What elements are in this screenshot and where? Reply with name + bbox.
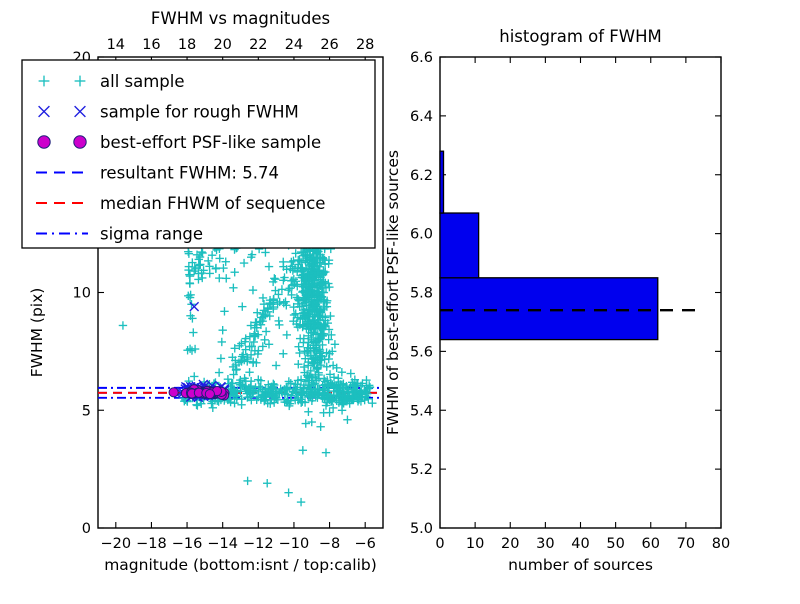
right-x-tick-label: 50 [606, 536, 624, 552]
left-bottom-tick-label: −16 [172, 536, 203, 552]
left-bottom-tick-label: −10 [279, 536, 310, 552]
legend-item-label: sigma range [100, 225, 203, 244]
right-y-tick-label: 6.0 [410, 227, 433, 243]
left-ylabel: FWHM (pix) [28, 288, 46, 378]
left-xlabel: magnitude (bottom:isnt / top:calib) [104, 556, 377, 574]
right-x-tick-label: 80 [712, 536, 730, 552]
legend: all samplesample for rough FWHMbest-effo… [22, 60, 375, 248]
left-bottom-tick-label: −12 [243, 536, 274, 552]
left-top-tick-label: 18 [178, 37, 196, 53]
left-bottom-tick-label: −18 [136, 536, 167, 552]
left-bottom-tick-label: −8 [319, 536, 340, 552]
left-bottom-tick-label: −20 [101, 536, 132, 552]
left-top-tick-label: 22 [249, 37, 267, 53]
right-y-tick-label: 5.2 [410, 462, 433, 478]
histogram-bar [440, 151, 444, 213]
right-y-tick-label: 6.2 [410, 168, 433, 184]
left-top-tick-label: 16 [142, 37, 160, 53]
legend-item-label: best-effort PSF-like sample [100, 133, 321, 152]
left-y-tick-label: 10 [73, 286, 91, 302]
legend-circle-marker [38, 136, 50, 148]
left-top-tick-label: 26 [320, 37, 338, 53]
left-bottom-tick-label: −14 [207, 536, 238, 552]
right-panel: histogram of FWHM010203040506070805.05.2… [384, 27, 730, 574]
right-y-tick-label: 6.6 [410, 50, 433, 66]
left-top-tick-label: 20 [213, 37, 231, 53]
right-x-tick-label: 30 [536, 536, 554, 552]
right-y-tick-label: 5.6 [410, 344, 433, 360]
left-y-tick-label: 0 [82, 521, 91, 537]
right-xlabel: number of sources [508, 556, 653, 574]
legend-item-label: resultant FWHM: 5.74 [100, 164, 279, 183]
left-top-tick-label: 28 [356, 37, 374, 53]
right-x-tick-label: 60 [642, 536, 660, 552]
histogram-bar [440, 213, 479, 278]
legend-item-label: sample for rough FWHM [100, 103, 299, 122]
right-y-tick-label: 5.4 [410, 403, 433, 419]
right-y-tick-label: 6.4 [410, 109, 433, 125]
matplotlib-figure: FWHM vs magnitudes1416182022242628−20−18… [0, 0, 800, 600]
left-bottom-tick-label: −6 [355, 536, 376, 552]
right-x-tick-label: 70 [677, 536, 695, 552]
left-y-tick-label: 5 [82, 403, 91, 419]
legend-circle-marker [74, 136, 86, 148]
legend-item-label: all sample [100, 72, 185, 91]
right-x-tick-label: 20 [501, 536, 519, 552]
legend-item-label: median FHWM of sequence [100, 194, 325, 213]
figure-canvas: FWHM vs magnitudes1416182022242628−20−18… [0, 0, 800, 600]
right-y-tick-label: 5.0 [410, 521, 433, 537]
psf-dot [169, 388, 178, 397]
legend-frame [22, 60, 375, 248]
right-x-tick-label: 10 [466, 536, 484, 552]
psf-dot [205, 389, 214, 398]
right-x-tick-label: 0 [435, 536, 444, 552]
left-panel-title: FWHM vs magnitudes [151, 9, 330, 28]
right-ylabel: FWHM of best-effort PSF-like sources [384, 150, 402, 435]
left-top-tick-label: 14 [107, 37, 125, 53]
histogram-bars [440, 151, 658, 339]
right-y-tick-label: 5.8 [410, 286, 433, 302]
right-panel-title: histogram of FWHM [499, 27, 662, 46]
left-top-tick-label: 24 [285, 37, 303, 53]
histogram-bar [440, 278, 658, 340]
right-x-tick-label: 40 [571, 536, 589, 552]
